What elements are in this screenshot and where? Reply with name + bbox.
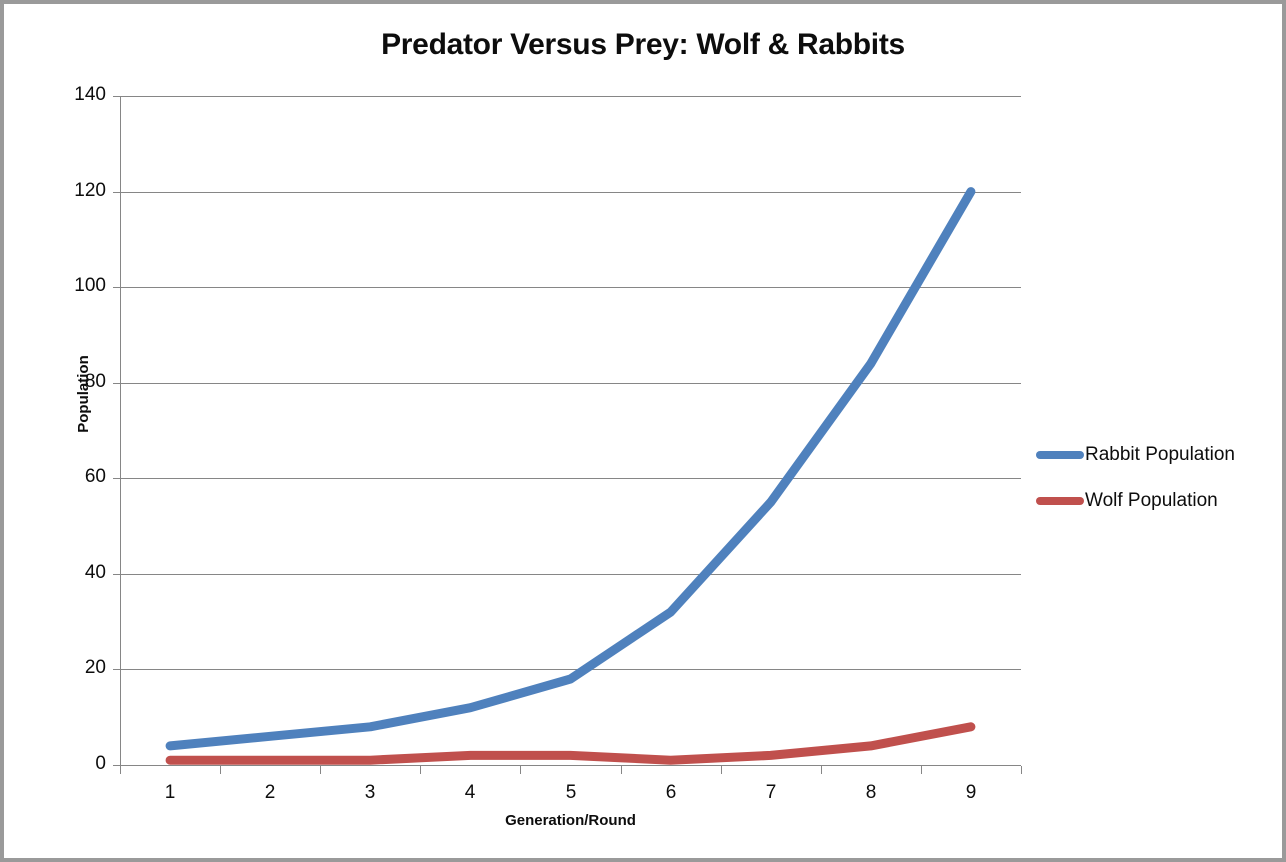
- y-tick-label: 120: [36, 180, 106, 202]
- legend-label-wolf: Wolf Population: [1085, 490, 1218, 512]
- x-tick-label: 5: [551, 782, 591, 804]
- legend-item-wolf-population[interactable]: Wolf Population: [1036, 478, 1266, 524]
- gridline: [120, 96, 1021, 97]
- y-tick-mark: [113, 383, 120, 384]
- gridline: [120, 478, 1021, 479]
- x-tick-mark: [120, 766, 121, 774]
- legend-swatch-rabbit: [1036, 451, 1084, 459]
- x-tick-label: 7: [751, 782, 791, 804]
- y-tick-label: 140: [36, 84, 106, 106]
- x-tick-label: 2: [250, 782, 290, 804]
- x-tick-mark: [320, 766, 321, 774]
- y-axis-title: Population: [75, 324, 95, 464]
- legend-item-rabbit-population[interactable]: Rabbit Population: [1036, 432, 1266, 478]
- y-tick-mark: [113, 765, 120, 766]
- x-tick-label: 8: [851, 782, 891, 804]
- y-tick-mark: [113, 96, 120, 97]
- x-tick-mark: [220, 766, 221, 774]
- gridline: [120, 669, 1021, 670]
- x-tick-label: 9: [951, 782, 991, 804]
- y-tick-label: 0: [36, 753, 106, 775]
- gridline: [120, 574, 1021, 575]
- gridline: [120, 765, 1021, 766]
- y-tick-mark: [113, 574, 120, 575]
- x-tick-mark: [621, 766, 622, 774]
- y-tick-mark: [113, 669, 120, 670]
- chart-canvas: Predator Versus Prey: Wolf & Rabbits 020…: [0, 0, 1286, 862]
- x-tick-mark: [1021, 766, 1022, 774]
- chart-title: Predator Versus Prey: Wolf & Rabbits: [4, 28, 1282, 62]
- y-tick-mark: [113, 287, 120, 288]
- x-tick-mark: [420, 766, 421, 774]
- y-tick-mark: [113, 478, 120, 479]
- y-tick-label: 40: [36, 562, 106, 584]
- x-tick-label: 3: [350, 782, 390, 804]
- gridline: [120, 287, 1021, 288]
- legend-swatch-wolf: [1036, 497, 1084, 505]
- x-tick-mark: [821, 766, 822, 774]
- y-tick-mark: [113, 192, 120, 193]
- x-tick-label: 6: [651, 782, 691, 804]
- y-tick-label: 60: [36, 466, 106, 488]
- legend-label-rabbit: Rabbit Population: [1085, 444, 1235, 466]
- x-tick-mark: [921, 766, 922, 774]
- gridline: [120, 383, 1021, 384]
- x-tick-mark: [520, 766, 521, 774]
- x-tick-label: 4: [450, 782, 490, 804]
- y-axis-line: [120, 96, 121, 766]
- y-tick-label: 20: [36, 657, 106, 679]
- x-tick-label: 1: [150, 782, 190, 804]
- x-axis-title: Generation/Round: [120, 812, 1021, 829]
- gridline: [120, 192, 1021, 193]
- y-tick-label: 80: [36, 371, 106, 393]
- chart-legend: Rabbit Population Wolf Population: [1036, 432, 1266, 524]
- y-tick-label: 100: [36, 275, 106, 297]
- plot-area: [120, 96, 1021, 761]
- x-tick-mark: [721, 766, 722, 774]
